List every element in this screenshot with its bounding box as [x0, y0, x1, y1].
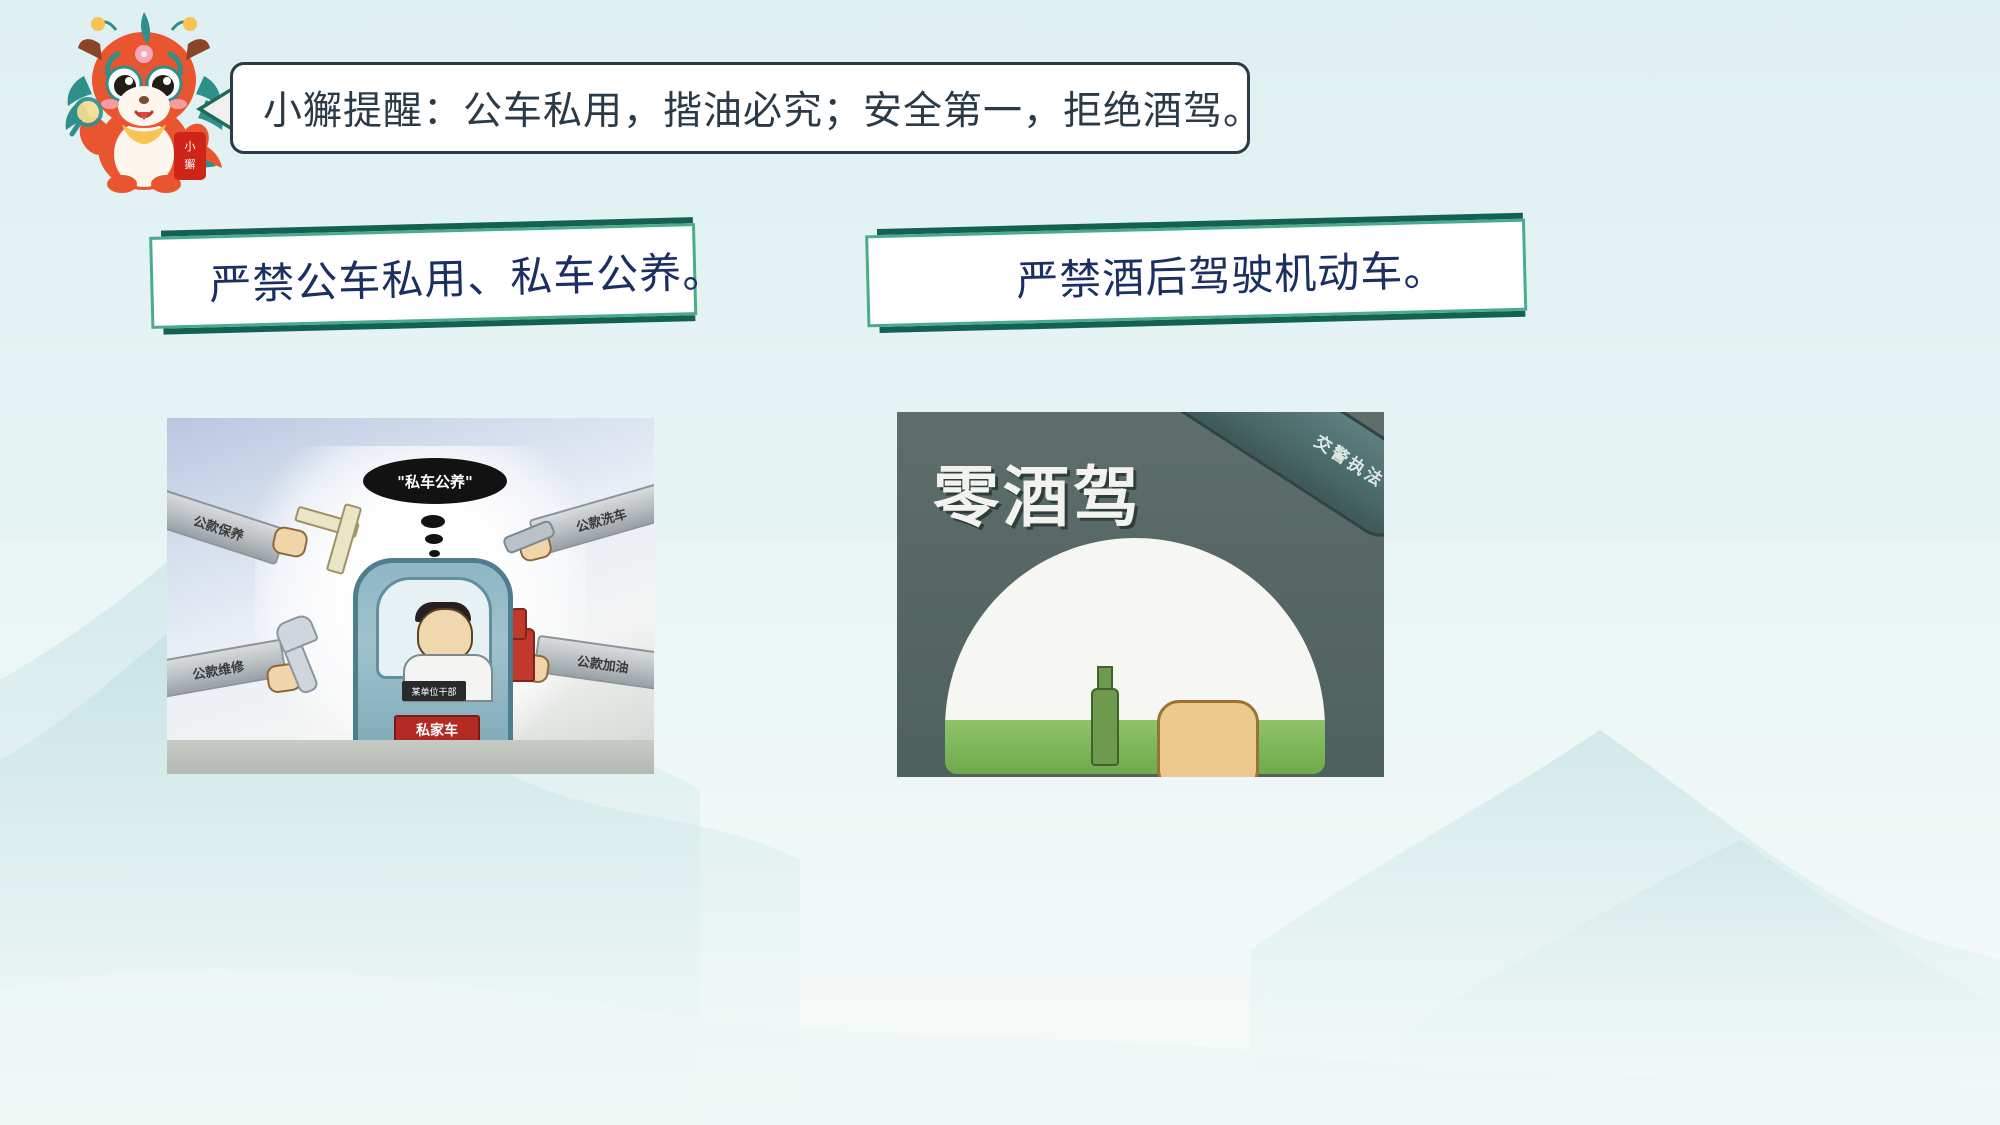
sleeve-text-gongkuan-jiayou: 公款加油 [576, 650, 630, 676]
speech-bubble-text: 小獬提醒：公车私用，揩油必究；安全第一，拒绝酒驾。 [263, 80, 1263, 136]
illustration-ground [167, 740, 654, 774]
svg-text:小: 小 [185, 140, 196, 153]
grass-strip [945, 720, 1325, 774]
banner-right-text: 严禁酒后驾驶机动车。 [869, 234, 1524, 312]
sleeve-text-gongkuan-weixiu: 公款维修 [191, 655, 246, 683]
illustration-zero-drink-driving: 零酒驾 交警执法 [897, 412, 1384, 777]
car-windshield [376, 577, 492, 679]
white-globe-backdrop [945, 538, 1325, 774]
thought-dot-small [429, 550, 440, 557]
car-sticker-text: 某单位干部 [411, 685, 456, 698]
driver-head [417, 608, 473, 660]
thought-bubble-label: "私车公养" [397, 471, 473, 492]
illustration-private-car-public-funds: "私车公养" 公款保养 公款维修 公款洗车 公款加油 [167, 418, 654, 774]
enforcement-arm-label: 交警执法 [1310, 428, 1384, 493]
thought-bubble: "私车公养" [363, 458, 507, 504]
banner-left-text: 严禁公车私用、私车公养。 [153, 238, 726, 313]
fuel-nozzle-spout [511, 608, 527, 640]
zero-drink-driving-headline: 零酒驾 [933, 444, 1143, 540]
banner-card-public-car: 严禁公车私用、私车公养。 [149, 201, 698, 335]
thought-dot-large [421, 515, 445, 528]
thought-dot-medium [425, 534, 443, 544]
car-sticker-label: 某单位干部 [402, 681, 466, 701]
banner-card-surface: 严禁公车私用、私车公养。 [149, 223, 697, 329]
sleeve-text-gongkuan-baoyang: 公款保养 [191, 510, 246, 544]
svg-text:獬: 獬 [185, 157, 196, 171]
sleeve-text-gongkuan-xiche: 公款洗车 [573, 503, 628, 536]
slide-canvas: 小 獬 小獬提醒：公车私用，揩油必究；安全第一，拒绝酒驾。 严禁公车私用、私车公… [0, 0, 2000, 1125]
enforcement-arm: 交警执法 [1133, 412, 1384, 548]
license-plate-text: 私家车 [416, 720, 458, 740]
car-front-view: 某单位干部 私家车 [353, 558, 513, 764]
banner-card-drink-driving: 严禁酒后驾驶机动车。 [865, 197, 1528, 334]
bottle-body [1091, 688, 1119, 766]
enforcement-fist [1157, 700, 1259, 777]
banner-card-surface: 严禁酒后驾驶机动车。 [865, 219, 1527, 328]
mascot-seal-stamp: 小 獬 [172, 130, 208, 182]
speech-bubble: 小獬提醒：公车私用，揩油必究；安全第一，拒绝酒驾。 [230, 62, 1250, 154]
